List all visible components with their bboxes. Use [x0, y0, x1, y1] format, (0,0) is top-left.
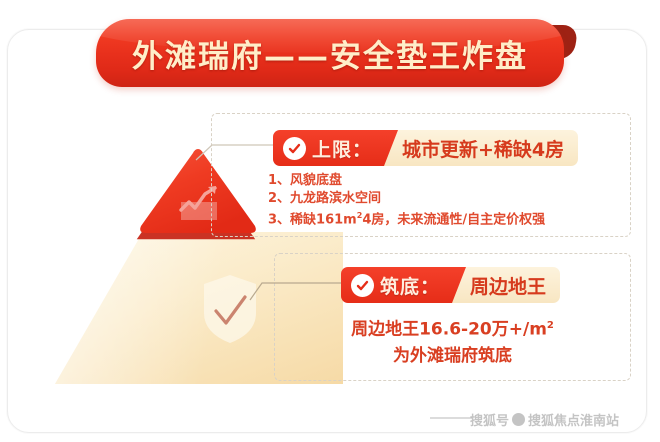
check-circle-icon	[351, 274, 374, 297]
check-circle-icon	[283, 137, 306, 160]
bullet-item-3: 3、稀缺161m24房，未来流通性/自主定价权强	[268, 207, 545, 229]
upper-limit-chip[interactable]: 上限： 城市更新+稀缺4房	[273, 130, 578, 166]
upper-limit-chip-label: 上限：	[312, 135, 372, 162]
foundation-line-2: 为外滩瑞府筑底	[274, 343, 631, 369]
foundation-line-1-superscript: 2	[547, 320, 554, 331]
poster-canvas: 外滩瑞府——安全垫王炸盘	[0, 0, 660, 442]
bullet-item-3-text-a: 3、稀缺161m	[268, 212, 357, 227]
watermark-source: 搜狐焦点淮南站	[528, 410, 619, 429]
upper-limit-headline: 城市更新+稀缺4房	[402, 135, 564, 162]
upper-limit-bullets: 1、风貌底盘 2、九龙路滨水空间 3、稀缺161m24房，未来流通性/自主定价权…	[268, 172, 545, 229]
watermark-brand: 搜狐号	[470, 410, 509, 429]
bullet-item-3-text-b: 4房，未来流通性/自主定价权强	[362, 212, 545, 227]
banner-title-text: 外滩瑞府——安全垫王炸盘	[132, 31, 528, 76]
foundation-headline: 周边地王	[470, 272, 546, 299]
foundation-line-1: 周边地王16.6-20万+/m2	[274, 313, 631, 343]
banner-body: 外滩瑞府——安全垫王炸盘	[96, 19, 564, 87]
bullet-item-1: 1、风貌底盘	[268, 172, 545, 190]
watermark: 搜狐号 搜狐焦点淮南站	[470, 410, 619, 429]
bullet-item-2: 2、九龙路滨水空间	[268, 190, 545, 208]
shield-check-icon	[200, 273, 260, 345]
foundation-chip-tag: 筑底：	[341, 267, 466, 303]
watermark-rule	[430, 417, 472, 419]
foundation-line-1-text: 周边地王16.6-20万+/m	[351, 320, 547, 340]
foundation-body: 周边地王16.6-20万+/m2 为外滩瑞府筑底	[274, 313, 631, 369]
upper-limit-headline-box: 城市更新+稀缺4房	[382, 130, 578, 166]
upper-limit-chip-tag: 上限：	[273, 130, 398, 166]
title-banner: 外滩瑞府——安全垫王炸盘	[96, 19, 564, 91]
foundation-chip-label: 筑底：	[380, 272, 440, 299]
sohu-logo-icon	[512, 413, 525, 426]
foundation-headline-box: 周边地王	[450, 267, 560, 303]
foundation-chip[interactable]: 筑底： 周边地王	[341, 267, 560, 303]
